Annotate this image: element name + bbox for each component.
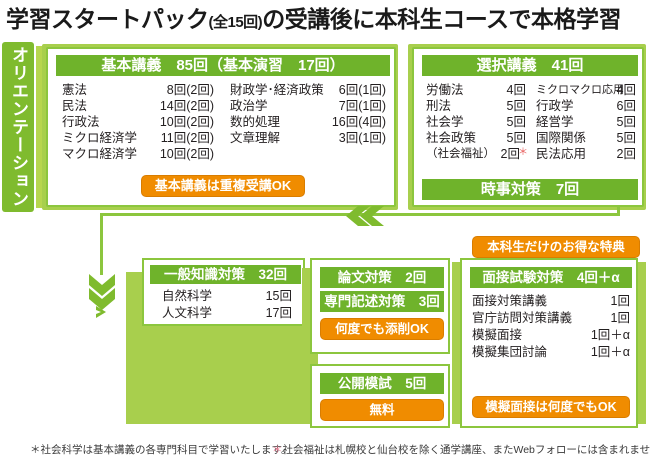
subject-count: 2回 xyxy=(617,146,636,162)
subject-name: 模擬面接 xyxy=(472,327,522,344)
subject-count: 5回 xyxy=(507,130,526,146)
subject-count: 17回 xyxy=(266,305,292,322)
list-item: 憲法8回(2回) xyxy=(62,82,214,98)
list-item: 民法14回(2回) xyxy=(62,98,214,114)
interview-list: 面接対策講義1回 官庁訪問対策講義1回 模擬面接1回＋α 模擬集団討論1回＋α xyxy=(472,293,630,361)
subject-count: 3回(1回) xyxy=(339,130,386,146)
subject-count: 5回 xyxy=(507,98,526,114)
orientation-label: オリエンテーション xyxy=(2,42,34,212)
subject-name: 行政法 xyxy=(62,114,100,130)
mock-exam-free-button[interactable]: 無料 xyxy=(320,399,444,421)
subject-name: 模擬集団討論 xyxy=(472,344,547,361)
subject-count: 4回 xyxy=(617,82,636,98)
list-item: ミクロマクロ応用4回 xyxy=(536,82,636,98)
subject-name: 憲法 xyxy=(62,82,87,98)
basic-lecture-right-list: 財政学･経済政策6回(1回) 政治学7回(1回) 数的処理16回(4回) 文章理… xyxy=(230,82,386,146)
subject-name: 刑法 xyxy=(426,98,451,114)
list-item: 文章理解3回(1回) xyxy=(230,130,386,146)
essay-header-2: 専門記述対策 3回 xyxy=(320,291,444,312)
list-item: 行政法10回(2回) xyxy=(62,114,214,130)
list-item: 財政学･経済政策6回(1回) xyxy=(230,82,386,98)
subject-name: 経営学 xyxy=(536,114,574,130)
special-benefit-badge: 本科生だけのお得な特典 xyxy=(472,236,640,258)
interview-panel: 面接試験対策 4回＋α 面接対策講義1回 官庁訪問対策講義1回 模擬面接1回＋α… xyxy=(460,258,638,428)
subject-name: 数的処理 xyxy=(230,114,280,130)
subject-count: 14回(2回) xyxy=(160,98,214,114)
subject-count: 6回(1回) xyxy=(339,82,386,98)
current-affairs-header: 時事対策 7回 xyxy=(422,179,638,200)
subject-name: 面接対策講義 xyxy=(472,293,547,310)
subject-count: 4回 xyxy=(507,82,526,98)
footnote-marker: ＊ xyxy=(272,444,283,456)
orientation-tab: オリエンテーション xyxy=(2,42,34,212)
subject-name: 文章理解 xyxy=(230,130,280,146)
general-knowledge-panel: 一般知識対策 32回 自然科学15回 人文科学17回 xyxy=(142,258,305,326)
subject-name: 国際関係 xyxy=(536,130,586,146)
list-item: 社会学5回 xyxy=(426,114,526,130)
subject-name: 自然科学 xyxy=(162,288,212,305)
list-item: 刑法5回 xyxy=(426,98,526,114)
subject-count: 5回 xyxy=(507,114,526,130)
list-item: （社会福祉）2回＊ xyxy=(426,146,526,162)
subject-count: 10回(2回) xyxy=(160,146,214,162)
list-item: 官庁訪問対策講義1回 xyxy=(472,310,630,327)
list-item: 自然科学15回 xyxy=(162,288,292,305)
subject-count: 6回 xyxy=(617,98,636,114)
basic-lecture-panel: 基本講義 85回（基本演習 17回） 憲法8回(2回) 民法14回(2回) 行政… xyxy=(46,47,396,207)
list-item: 模擬集団討論1回＋α xyxy=(472,344,630,361)
title-rest: の受講後に本科生コースで本格学習 xyxy=(262,6,621,32)
subject-count: 7回(1回) xyxy=(339,98,386,114)
subject-count: 16回(4回) xyxy=(332,114,386,130)
subject-count: 5回 xyxy=(617,114,636,130)
elective-right-list: ミクロマクロ応用4回 行政学6回 経営学5回 国際関係5回 民法応用2回 xyxy=(536,82,636,162)
list-item: 人文科学17回 xyxy=(162,305,292,322)
subject-name: 官庁訪問対策講義 xyxy=(472,310,572,327)
subject-name: ミクロ経済学 xyxy=(62,130,137,146)
footnote-marker: ＊ xyxy=(518,145,528,161)
subject-count: 1回＋α xyxy=(591,327,630,344)
subject-name: 政治学 xyxy=(230,98,268,114)
arrow-left-chevron-icon xyxy=(352,205,392,227)
subject-name: 民法 xyxy=(62,98,87,114)
subject-name: 労働法 xyxy=(426,82,464,98)
footnote-right: ＊社会福祉は札幌校と仙台校を除く通学講座、またWebフォローには含まれません。 xyxy=(272,442,650,457)
subject-name: ミクロマクロ応用 xyxy=(536,82,624,98)
footnote-right-text: 社会福祉は札幌校と仙台校を除く通学講座、またWebフォローには含まれません。 xyxy=(283,444,650,456)
subject-count: 1回 xyxy=(611,310,630,327)
list-item: マクロ経済学10回(2回) xyxy=(62,146,214,162)
elective-left-list: 労働法4回 刑法5回 社会学5回 社会政策5回 （社会福祉）2回＊ xyxy=(426,82,526,162)
footnote-left: ＊社会科学は基本講義の各専門科目で学習いたします。 xyxy=(30,442,291,457)
basic-lecture-left-list: 憲法8回(2回) 民法14回(2回) 行政法10回(2回) ミクロ経済学11回(… xyxy=(62,82,214,162)
interview-header: 面接試験対策 4回＋α xyxy=(470,267,632,288)
list-item: 面接対策講義1回 xyxy=(472,293,630,310)
list-item: 模擬面接1回＋α xyxy=(472,327,630,344)
elective-lecture-header: 選択講義 41回 xyxy=(422,55,638,76)
interview-mock-button[interactable]: 模擬面接は何度でもOK xyxy=(472,396,630,418)
list-item: 数的処理16回(4回) xyxy=(230,114,386,130)
basic-lecture-repeat-button[interactable]: 基本講義は重複受講OK xyxy=(141,175,305,197)
mock-exam-panel: 公開模試 5回 無料 xyxy=(310,364,450,428)
subject-name: 行政学 xyxy=(536,98,574,114)
arrow-right-small-icon xyxy=(94,303,116,321)
list-item: 民法応用2回 xyxy=(536,146,636,162)
elective-lecture-panel: 選択講義 41回 労働法4回 刑法5回 社会学5回 社会政策5回 （社会福祉）2… xyxy=(412,47,644,207)
list-item: 経営学5回 xyxy=(536,114,636,130)
connector-line-vertical-left xyxy=(100,213,103,275)
subject-name: マクロ経済学 xyxy=(62,146,137,162)
list-item: 社会政策5回 xyxy=(426,130,526,146)
title-main: 学習スタートパック xyxy=(6,6,209,32)
subject-name: 社会学 xyxy=(426,114,464,130)
page-title: 学習スタートパック(全15回)の受講後に本科生コースで本格学習 xyxy=(6,3,646,35)
subject-name: （社会福祉） xyxy=(426,146,495,162)
subject-count: 10回(2回) xyxy=(160,114,214,130)
list-item: 政治学7回(1回) xyxy=(230,98,386,114)
general-knowledge-header: 一般知識対策 32回 xyxy=(150,265,301,284)
subject-count: 1回＋α xyxy=(591,344,630,361)
subject-count: 15回 xyxy=(266,288,292,305)
subject-name: 人文科学 xyxy=(162,305,212,322)
diagram-canvas: 学習スタートパック(全15回)の受講後に本科生コースで本格学習 オリエンテーショ… xyxy=(0,0,650,465)
essay-panel: 論文対策 2回 専門記述対策 3回 何度でも添削OK xyxy=(310,258,450,354)
subject-count: 8回(2回) xyxy=(167,82,214,98)
essay-header-1: 論文対策 2回 xyxy=(320,267,444,288)
subject-name: 民法応用 xyxy=(536,146,586,162)
subject-count: 5回 xyxy=(617,130,636,146)
title-paren: (全15回) xyxy=(209,14,263,31)
subject-name: 社会政策 xyxy=(426,130,476,146)
subject-count: 1回 xyxy=(611,293,630,310)
list-item: 国際関係5回 xyxy=(536,130,636,146)
general-knowledge-list: 自然科学15回 人文科学17回 xyxy=(162,288,292,322)
essay-correction-button[interactable]: 何度でも添削OK xyxy=(320,318,444,340)
list-item: 労働法4回 xyxy=(426,82,526,98)
list-item: ミクロ経済学11回(2回) xyxy=(62,130,214,146)
subject-name: 財政学･経済政策 xyxy=(230,82,324,98)
basic-lecture-header: 基本講義 85回（基本演習 17回） xyxy=(56,55,390,76)
mock-exam-header: 公開模試 5回 xyxy=(320,373,444,394)
connector-line-right-stub xyxy=(617,207,620,216)
list-item: 行政学6回 xyxy=(536,98,636,114)
subject-count: 11回(2回) xyxy=(161,130,214,146)
